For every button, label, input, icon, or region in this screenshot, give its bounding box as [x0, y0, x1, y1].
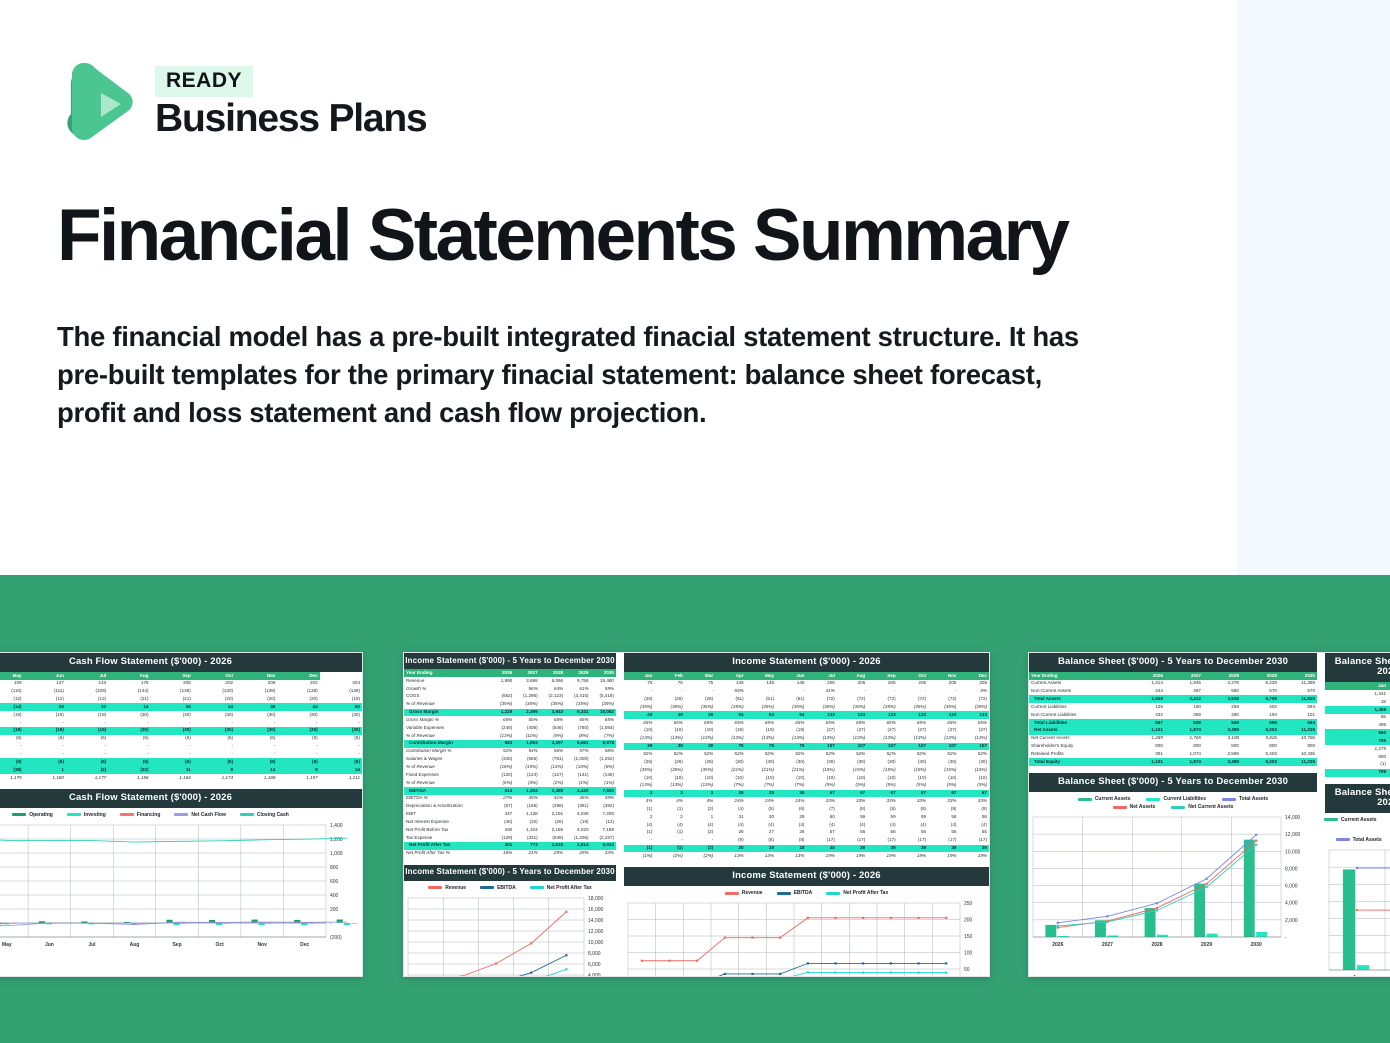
table-cell: (10) [654, 774, 684, 782]
table-cell: - [150, 719, 192, 727]
column-header: Jul [806, 672, 836, 680]
income5-table: Year Ending20262027202820292030Revenue1,… [404, 669, 616, 857]
table-cell: 6,798 [1241, 695, 1279, 703]
table-cell: 58 [958, 813, 989, 821]
table-cell: (26) [624, 695, 654, 703]
table-cell: (19) [66, 711, 108, 719]
row-label: Net Current Assets [1029, 735, 1127, 743]
row-label: Total Equity [1029, 758, 1127, 766]
table-cell: 204 [320, 680, 362, 688]
table-cell: (3,415) [565, 693, 590, 701]
table-cell: - [685, 837, 715, 845]
table-cell: 447 [489, 810, 514, 818]
legend-row: Current AssetsCurrent Liabilities [1324, 817, 1390, 823]
table-cell: 1,229 [489, 709, 514, 717]
column-header: 2029 [1241, 672, 1279, 680]
table-cell: 133 [837, 711, 867, 719]
table-cell: (30) [235, 711, 277, 719]
svg-text:600: 600 [330, 879, 339, 885]
table-cell: 27 [746, 829, 776, 837]
table-cell: 56 [867, 829, 897, 837]
table-cell: (138) [150, 688, 192, 696]
table-cell: 59 [867, 813, 897, 821]
table-cell: (15%) [958, 766, 989, 774]
table-cell: (6%) [489, 779, 514, 787]
table-cell: 21% [514, 850, 539, 858]
table-row: (19)(19)(19)(19)(30)(30)(30)(30)(30)(30) [0, 727, 362, 735]
table-row: (75)(110)(111)(109)(144)(138)(130)(139)(… [0, 688, 362, 696]
legend-label: Financing [137, 812, 161, 818]
table-cell: 1,993 [514, 740, 539, 748]
table-cell: (12) [0, 695, 24, 703]
table-cell: 59 [898, 813, 928, 821]
table-cell: (8) [837, 805, 867, 813]
table-row: Net Profit After Tax3017731,5152,8145,03… [404, 842, 616, 850]
table-row: 799798 [1325, 737, 1390, 745]
table-cell: (13%) [540, 763, 565, 771]
row-label: Net Profit Before Tax [404, 826, 489, 834]
table-cell: (10) [928, 774, 958, 782]
table-cell: 539 [1165, 719, 1203, 727]
table-cell: (9) [928, 805, 958, 813]
table-cell: 39 [958, 845, 989, 853]
table-cell: (35%) [928, 703, 958, 711]
table-cell: 1,174 [193, 774, 235, 782]
table-cell: 107 [928, 743, 958, 751]
table-cell: 65% [746, 719, 776, 727]
column-header: 2026 [1127, 672, 1165, 680]
table-cell: (19) [24, 727, 66, 735]
table-cell: (30) [776, 758, 806, 766]
balance5-table: Year Ending20262027202820292030Current A… [1029, 672, 1317, 766]
table-row: (6)(6)(6)(6)(6)(6)(6)(6)(6)(6) [0, 735, 362, 743]
table-cell: 65% [685, 719, 715, 727]
table-cell: 67 [928, 790, 958, 798]
table-cell: - [108, 750, 150, 758]
column-header: 2027 [1165, 672, 1203, 680]
table-cell: 28 [715, 829, 745, 837]
ready-badge: READY [155, 66, 253, 96]
table-cell: 67 [867, 790, 897, 798]
table-cell: 94 [746, 711, 776, 719]
table-cell: (109) [66, 688, 108, 696]
table-cell: 180 [1165, 703, 1203, 711]
table-cell: (1%) [624, 852, 654, 860]
table-cell: - [277, 719, 319, 727]
table-cell: (4) [806, 821, 836, 829]
table-cell: (72) [958, 695, 989, 703]
table-cell: 402 [1241, 703, 1279, 711]
table-cell: 65% [489, 716, 514, 724]
table-cell: (1) [624, 829, 654, 837]
table-cell: (4) [898, 821, 928, 829]
table-cell: (10) [685, 727, 715, 735]
table-cell: (2) [685, 845, 715, 853]
table-cell: (13%) [898, 735, 928, 743]
table-cell: 11,930 [1279, 695, 1317, 703]
table-cell: (6) [320, 758, 362, 766]
legend-item: Current Liabilities [1146, 796, 1206, 802]
legend-swatch [12, 813, 26, 816]
table-cell: 39 [898, 845, 928, 853]
table-cell: - [66, 750, 108, 758]
table-cell: (6) [320, 735, 362, 743]
table-cell: 1,138 [514, 810, 539, 818]
table-cell: 3,108 [1203, 735, 1241, 743]
income2026-table-title: Income Statement ($'000) - 2026 [624, 653, 989, 672]
row-label: Contribution Margin % [404, 748, 489, 756]
balance-monthly-table-title: Balance Sheet ($'000) - 2026 [1325, 653, 1390, 682]
table-header-row: Year Ending20262027202820292030 [1029, 672, 1317, 680]
table-cell: 22 [66, 703, 108, 711]
table-cell: 11 [150, 766, 192, 774]
table-row: 1,2751,251 [1325, 745, 1390, 753]
legend-row: Net AssetsNet Current Assets [1113, 804, 1234, 810]
table-cell: 1,074 [1165, 750, 1203, 758]
table-cell: 11,235 [1279, 727, 1317, 735]
table-row: 6572 [1325, 714, 1390, 722]
table-cell: (72) [898, 695, 928, 703]
income2026-chart-title: Income Statement ($'000) - 2026 [624, 867, 989, 886]
table-cell: 26 [776, 829, 806, 837]
table-row: 800800 [1325, 753, 1390, 761]
table-cell: (13%) [654, 782, 684, 790]
table-cell: (14) [0, 703, 24, 711]
table-cell: (27) [898, 727, 928, 735]
table-cell: 983 [489, 740, 514, 748]
legend-item: Financing [120, 812, 161, 818]
table-cell: (129) [489, 834, 514, 842]
table-cell: (51) [776, 695, 806, 703]
table-cell: 1,177 [66, 774, 108, 782]
table-cell: (13%) [928, 735, 958, 743]
table-row: Total Equity1,1011,8743,3896,20311,235 [1029, 758, 1317, 766]
table-cell: 799 [1325, 737, 1388, 745]
svg-text:18,000: 18,000 [588, 896, 604, 902]
table-cell: 10,766 [1279, 735, 1317, 743]
table-cell: 4,039 [565, 810, 590, 818]
table-cell: 13% [776, 852, 806, 860]
table-cell: 35% [514, 795, 539, 803]
balance5-chart-title: Balance Sheet ($'000) - 5 Years to Decem… [1029, 773, 1317, 792]
svg-text:12,000: 12,000 [1285, 832, 1301, 838]
column-header: Mar [685, 672, 715, 680]
table-cell: 65% [624, 719, 654, 727]
table-cell: (10) [746, 774, 776, 782]
table-cell: 205 [806, 680, 836, 688]
table-cell: - [320, 750, 362, 758]
column-header: 2027 [514, 669, 539, 677]
table-cell: (27) [867, 727, 897, 735]
row-label: Depreciation & Amortization [404, 803, 489, 811]
svg-text:Jan: Jan [1353, 975, 1362, 977]
table-cell: (35%) [958, 703, 989, 711]
table-cell: 800 [1127, 743, 1165, 751]
table-row: ---------- [0, 743, 362, 751]
table-cell: (8) [867, 805, 897, 813]
cashflow-screenshot-card: Cash Flow Statement ($'000) - 2026 AprMa… [0, 652, 363, 977]
table-cell: 19% [958, 852, 989, 860]
table-cell: 50 [320, 703, 362, 711]
table-cell: 52% [489, 748, 514, 756]
column-header: Feb [654, 672, 684, 680]
table-cell: (381) [565, 803, 590, 811]
column-header: 2029 [565, 669, 590, 677]
table-cell: 52% [776, 750, 806, 758]
table-cell: 2,165 [540, 826, 565, 834]
svg-text:12,000: 12,000 [588, 929, 604, 935]
table-cell: (19) [66, 727, 108, 735]
table-cell: 75 [685, 680, 715, 688]
table-cell: 35 [746, 790, 776, 798]
table-cell: (6) [150, 735, 192, 743]
table-cell: 41% [806, 688, 836, 696]
table-cell: 4,020 [565, 826, 590, 834]
table-header-row: Year Ending20262027202820292030 [404, 669, 616, 677]
table-cell: (30) [320, 727, 362, 735]
table-row: (35%)(35%)(35%)(35%)(35%)(35%)(35%)(35%)… [624, 703, 989, 711]
table-cell: (6) [235, 735, 277, 743]
table-cell: (5%) [898, 782, 928, 790]
svg-text:100: 100 [964, 951, 973, 957]
row-label: % of Revenue [404, 701, 489, 709]
table-cell: 18 [776, 845, 806, 853]
table-cell: 359 [1165, 711, 1203, 719]
svg-text:14,000: 14,000 [1285, 815, 1301, 821]
svg-text:2029: 2029 [1201, 942, 1212, 948]
table-cell: (35%) [489, 701, 514, 709]
table-cell: 147 [24, 680, 66, 688]
column-header: Oct [193, 672, 235, 680]
table-cell: 49% [591, 795, 616, 803]
table-cell: (2%) [540, 779, 565, 787]
table-cell: 46 [150, 703, 192, 711]
table-row: 1,2171,1791,1801,1771,1561,1661,1741,188… [0, 774, 362, 782]
table-cell: (17) [806, 837, 836, 845]
column-header: 2028 [1203, 672, 1241, 680]
table-cell: 65% [565, 716, 590, 724]
table-cell: - [867, 688, 897, 696]
table-cell: (392) [591, 803, 616, 811]
table-cell: 65% [928, 719, 958, 727]
table-cell: 107 [898, 743, 928, 751]
table-cell: - [235, 750, 277, 758]
column-header: Aug [108, 672, 150, 680]
table-row: (1%)(2%)(2%)13%13%13%19%19%19%19%19%19% [624, 852, 989, 860]
table-cell: (10) [654, 727, 684, 735]
table-cell: (6) [193, 735, 235, 743]
table-cell: 55 [958, 829, 989, 837]
table-cell: (13%) [685, 735, 715, 743]
row-label: Current Liabilities [1029, 703, 1127, 711]
table-cell: (30) [320, 711, 362, 719]
table-cell: (17) [837, 837, 867, 845]
table-cell: - [108, 743, 150, 751]
table-cell: (1%) [565, 779, 590, 787]
table-cell: 61% [565, 685, 590, 693]
table-cell: - [193, 750, 235, 758]
table-cell: (27) [928, 727, 958, 735]
table-cell: 14 [108, 703, 150, 711]
legend-swatch [1113, 806, 1127, 809]
table-cell: 145 [715, 680, 745, 688]
table-cell: (6) [0, 758, 24, 766]
table-cell: 24% [715, 797, 745, 805]
table-cell: 58% [591, 748, 616, 756]
table-cell: 19% [837, 852, 867, 860]
table-cell: (9) [715, 837, 745, 845]
table-row: % of Revenue(18%)(15%)(13%)(10%)(8%) [404, 763, 616, 771]
table-cell: (35%) [898, 703, 928, 711]
table-cell: 301 [489, 842, 514, 850]
table-cell: (72) [806, 695, 836, 703]
table-cell: 2,412 [1165, 695, 1203, 703]
legend-label: Net Assets [1130, 804, 1156, 810]
column-header: 2026 [489, 669, 514, 677]
table-cell: 2,191 [540, 810, 565, 818]
table-cell: (5%) [958, 782, 989, 790]
legend-item: Net Cash Flow [174, 812, 225, 818]
table-cell: 1,166 [150, 774, 192, 782]
svg-text:-: - [1285, 935, 1287, 941]
svg-text:6,000: 6,000 [588, 962, 601, 968]
table-cell: (1) [624, 805, 654, 813]
row-label: EBIT [404, 810, 489, 818]
table-cell: (2,157) [591, 834, 616, 842]
svg-text:200: 200 [964, 918, 973, 924]
table-cell: (13%) [806, 735, 836, 743]
table-cell: 40 [806, 845, 836, 853]
table-cell: (21) [108, 695, 150, 703]
table-cell: (17) [898, 837, 928, 845]
pane-divider [616, 653, 624, 976]
table-cell: 93% [715, 688, 745, 696]
table-cell: 52% [898, 750, 928, 758]
page-title: Financial Statements Summary [57, 198, 1177, 275]
table-cell: 94 [715, 711, 745, 719]
table-cell: 33% [806, 797, 836, 805]
table-cell: 3,938 [1203, 695, 1241, 703]
table-cell: 1,765 [1165, 735, 1203, 743]
table-cell: 19% [867, 852, 897, 860]
table-cell: 2,814 [565, 842, 590, 850]
table-cell: 67 [958, 790, 989, 798]
table-cell: 33% [837, 797, 867, 805]
table-cell: 30 [746, 813, 776, 821]
row-label: Current Assets [1029, 680, 1127, 688]
table-cell: (19) [24, 711, 66, 719]
table-cell: (10) [958, 774, 989, 782]
table-cell: 39 [928, 845, 958, 853]
table-row: (6)(6)(6)(6)(6)(6)(6)(6)(6)(6) [0, 758, 362, 766]
table-cell: (13%) [624, 782, 654, 790]
income5-table-title: Income Statement ($'000) - 5 Years to De… [404, 653, 616, 669]
table-row: Contribution Margin %52%54%56%57%58% [404, 748, 616, 756]
column-header: Jun [24, 672, 66, 680]
svg-text:Nov: Nov [257, 942, 267, 948]
table-cell: (6) [150, 758, 192, 766]
table-cell: 35 [776, 790, 806, 798]
table-row: Net Interest Expense(46)(32)(26)(19)(12) [404, 818, 616, 826]
legend-swatch [530, 886, 544, 889]
table-cell: 1,359 [1325, 706, 1388, 714]
income5-chart-legend: RevenueEBITDANet Profit After Tax [404, 881, 616, 893]
table-cell: (30) [837, 758, 867, 766]
table-cell: (35%) [776, 703, 806, 711]
table-cell: 570 [1241, 688, 1279, 696]
table-cell: 33% [591, 850, 616, 858]
table-cell: (662) [489, 693, 514, 701]
table-cell: 109 [0, 680, 24, 688]
cashflow-table: AprMayJunJulAugSepOctNovDec7910914714317… [0, 672, 362, 782]
table-cell: 39 [837, 845, 867, 853]
divider [1029, 766, 1317, 773]
table-cell: (26) [624, 758, 654, 766]
table-cell: - [0, 719, 24, 727]
table-row: 393939757575107107107107107107 [624, 743, 989, 751]
table-row: (23)(38)1(2)(22)11814914 [0, 766, 362, 774]
table-cell: (10) [624, 727, 654, 735]
table-row: 1,3591,359 [1325, 706, 1390, 714]
table-row: 757575145145145205205205205205205 [624, 680, 989, 688]
table-cell: 107 [837, 743, 867, 751]
table-cell: 65% [958, 719, 989, 727]
table-cell: (7%) [746, 782, 776, 790]
legend-row: Current AssetsCurrent LiabilitiesTotal A… [1078, 796, 1268, 802]
column-header: Sep [867, 672, 897, 680]
table-cell: 1,414 [1127, 680, 1165, 688]
table-cell: (35%) [685, 766, 715, 774]
table-cell: 1,874 [1165, 727, 1203, 735]
table-cell: 6,203 [1241, 758, 1279, 766]
table-cell: (19) [715, 727, 745, 735]
table-cell: - [66, 719, 108, 727]
table-cell: 27% [489, 795, 514, 803]
table-cell: 57 [806, 829, 836, 837]
table-row: (26)(26)(26)(30)(30)(30)(30)(30)(30)(30)… [624, 758, 989, 766]
table-cell: (13%) [715, 735, 745, 743]
table-cell: 3 [685, 790, 715, 798]
table-row: (1)(1)(2)201918403939393939 [624, 845, 989, 853]
legend-item: Net Assets [1113, 804, 1156, 810]
table-cell: 65% [591, 716, 616, 724]
svg-text:1,200: 1,200 [330, 837, 343, 843]
table-cell: 107 [958, 743, 989, 751]
legend-label: Revenue [742, 890, 763, 896]
row-label: Total Assets [1029, 695, 1127, 703]
table-cell: (4) [685, 821, 715, 829]
table-cell: 495 [1325, 722, 1388, 730]
table-cell: 6,203 [1241, 727, 1279, 735]
table-cell: 2,399 [514, 709, 539, 717]
table-cell: 8 [193, 766, 235, 774]
table-cell: (72) [928, 695, 958, 703]
table-cell: (26) [654, 758, 684, 766]
row-label: Gross Margin [404, 709, 489, 717]
table-cell: 1,874 [1165, 758, 1203, 766]
table-cell: (30) [277, 727, 319, 735]
svg-text:4,000: 4,000 [1285, 901, 1298, 907]
svg-text:May: May [2, 942, 12, 948]
row-label: COGS [404, 693, 489, 701]
table-row: (13%)(13%)(13%)(13%)(13%)(13%)(13%)(13%)… [624, 735, 989, 743]
table-row: ---------- [0, 750, 362, 758]
legend-label: Current Liabilities [1163, 796, 1206, 802]
table-cell: 202 [277, 680, 319, 688]
table-row: EBITDA5141,3042,4884,4207,592 [404, 787, 616, 795]
slide-root: READY Business Plans Financial Statement… [0, 0, 1390, 1043]
column-header: Jun [776, 672, 806, 680]
